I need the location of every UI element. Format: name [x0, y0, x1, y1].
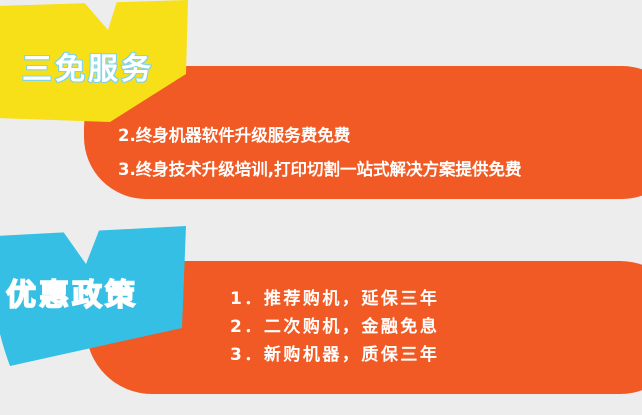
- free-services-title: 三免服务: [22, 44, 154, 88]
- list-item: 3.终身技术升级培训,打印切割一站式解决方案提供免费: [118, 153, 522, 187]
- poster-canvas: 三免服务 2.终身机器软件升级服务费免费 3.终身技术升级培训,打印切割一站式解…: [0, 0, 642, 415]
- preferential-policy-title: 优惠政策: [6, 270, 138, 314]
- list-item: 3．新购机器，质保三年: [230, 341, 439, 369]
- preferential-policy-list: 1．推荐购机，延保三年 2．二次购机，金融免息 3．新购机器，质保三年: [230, 285, 439, 369]
- free-services-list: 2.终身机器软件升级服务费免费 3.终身技术升级培训,打印切割一站式解决方案提供…: [118, 119, 522, 187]
- list-item: 2．二次购机，金融免息: [230, 313, 439, 341]
- list-item: 1．推荐购机，延保三年: [230, 285, 439, 313]
- list-item: 2.终身机器软件升级服务费免费: [118, 119, 522, 153]
